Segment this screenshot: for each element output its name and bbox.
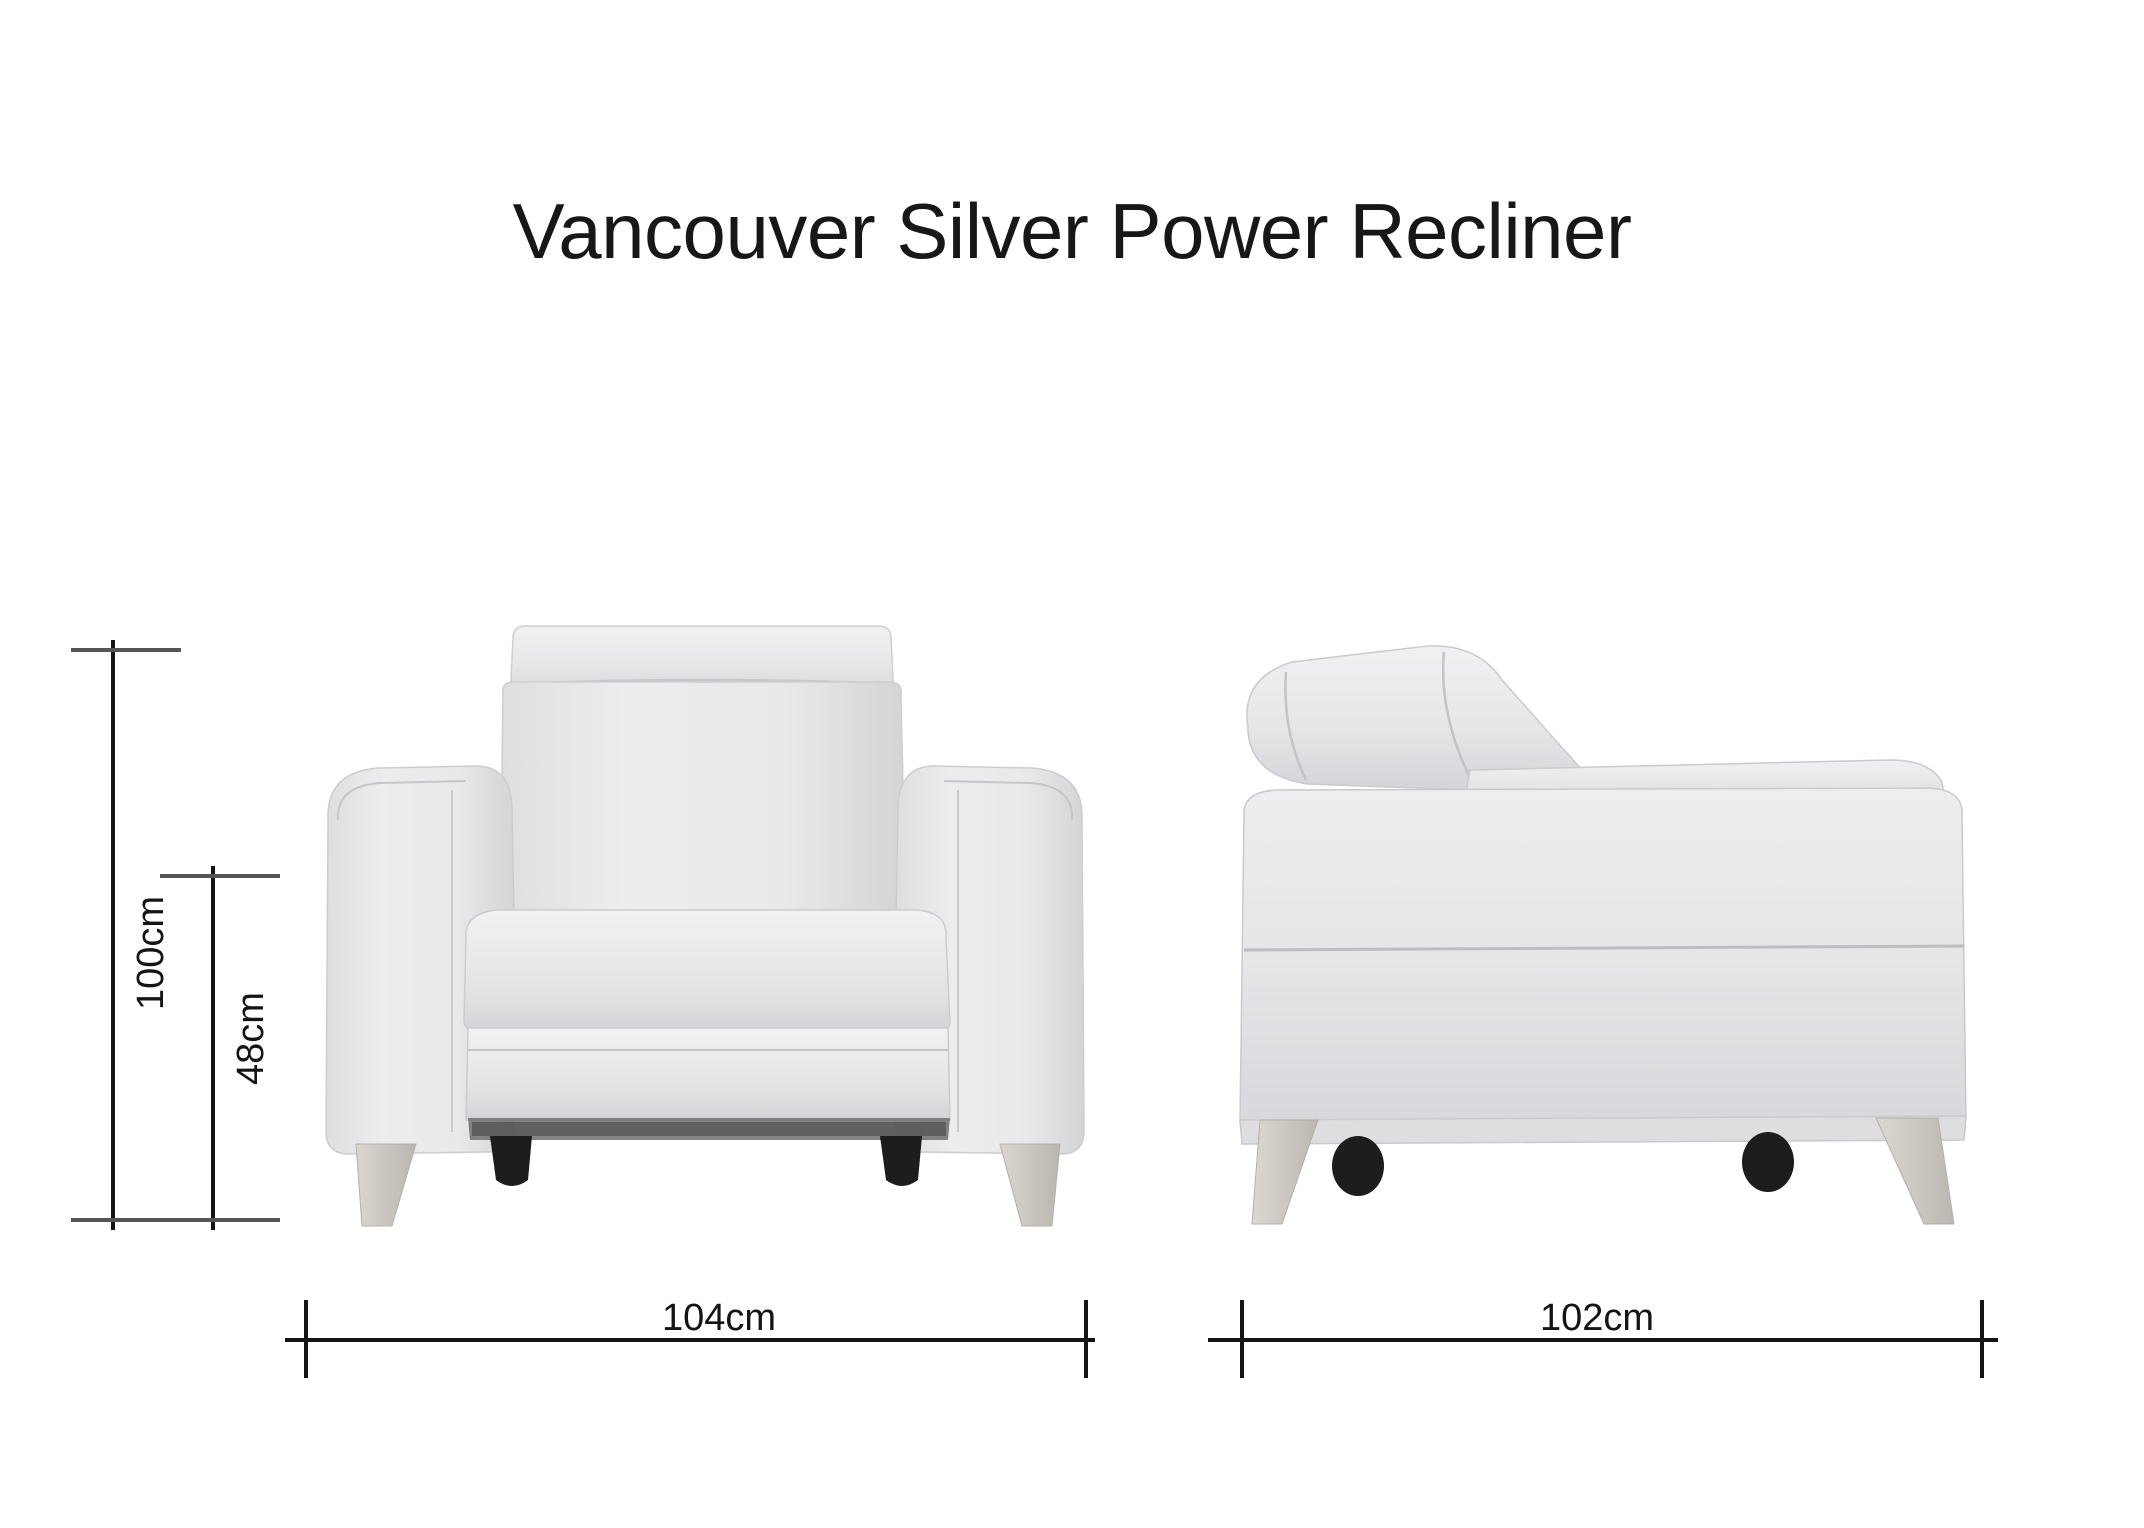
height-48-bottom-tick — [160, 1218, 280, 1222]
diagram-canvas: Vancouver Silver Power Recliner 100cm 48… — [0, 0, 2144, 1528]
seat-cushion — [464, 910, 950, 1034]
side-view — [1230, 620, 2020, 1260]
width-104-right-tick — [1084, 1300, 1088, 1378]
side-view-illustration — [1230, 620, 2020, 1260]
front-leg-right — [1000, 1144, 1060, 1226]
width-104-label: 104cm — [646, 1299, 792, 1337]
front-center-foot-right — [880, 1136, 922, 1186]
front-view — [300, 620, 1110, 1260]
height-48-label: 48cm — [232, 992, 270, 1085]
side-body — [1240, 788, 1966, 1124]
side-foot-right — [1742, 1132, 1794, 1192]
front-leg-left — [356, 1144, 416, 1226]
height-100-label: 100cm — [132, 896, 170, 1010]
front-center-foot-left — [490, 1136, 532, 1186]
width-104-left-tick — [304, 1300, 308, 1378]
depth-102-left-tick — [1240, 1300, 1244, 1378]
height-48-dimension-line — [211, 866, 215, 1230]
depth-102-right-tick — [1980, 1300, 1984, 1378]
front-view-illustration — [300, 620, 1110, 1260]
page-title: Vancouver Silver Power Recliner — [0, 186, 2144, 277]
front-base-panel — [466, 1028, 950, 1120]
side-foot-left — [1332, 1136, 1384, 1196]
depth-102-label: 102cm — [1524, 1299, 1670, 1337]
back-cushion — [500, 682, 906, 940]
height-48-top-tick — [160, 874, 280, 878]
side-leg-front — [1252, 1120, 1318, 1224]
height-100-dimension-line — [111, 640, 115, 1230]
height-100-top-tick — [71, 648, 181, 652]
